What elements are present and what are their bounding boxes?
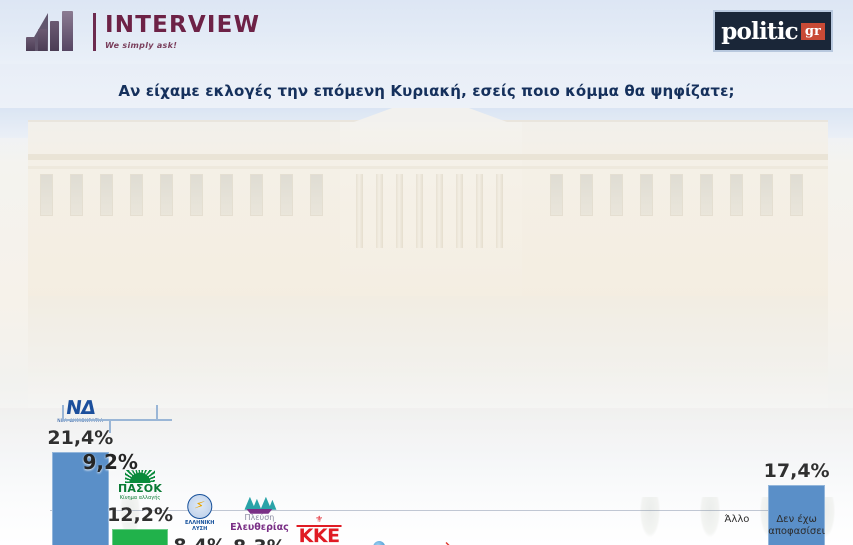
dimokratiko-patriotiko-kinima-party-logo-icon: ΔΗΜΟΚΡΑΤΙΚΟ ΚΙΝΗΜΑ — [344, 541, 414, 545]
bar-pasok[interactable] — [112, 529, 169, 545]
elliniki-lysi-subtitle: ΕΛΛΗΝΙΚΗΛΥΣΗ — [185, 520, 214, 533]
bar-group-nea-aristera[interactable]: 4,1% — [470, 476, 527, 545]
elliniki-lysi-party-logo-icon: ⚡ΕΛΛΗΝΙΚΗΛΥΣΗ — [185, 494, 214, 533]
brand-tagline: We simply ask! — [105, 41, 260, 50]
politic-wordmark: politic — [721, 20, 798, 43]
arrow-icon: ⟶ — [426, 539, 450, 545]
party-logo-kke: ⚜ΚΚΕ — [297, 516, 342, 545]
party-logo-pleusi-eleftherias: ΠλεύσηΕλευθερίας — [230, 497, 289, 533]
politic-gr-logo[interactable]: politic gr — [713, 10, 833, 52]
pleusi-eleftherias-party-logo-icon: ΠλεύσηΕλευθερίας — [230, 497, 289, 533]
bar-group-nd[interactable]: 21,4%ΝΔΝΕΑ ΔΗΜΟΚΡΑΤΙΑ — [52, 332, 109, 545]
bar-group-pleusi-eleftherias[interactable]: 8,3%ΠλεύσηΕλευθερίας — [231, 441, 288, 545]
compass-icon: ⚡ — [187, 494, 212, 519]
bar-group-den-exo-apofasisei[interactable]: 17,4%Δεν έχω αποφασίσει — [768, 365, 825, 545]
hammer-sickle-icon: ⚜ — [315, 516, 323, 525]
bar-group-dimokratiko-patriotiko-kinima[interactable]: 4,4%ΔΗΜΟΚΡΑΤΙΚΟ ΚΙΝΗΜΑ — [350, 473, 407, 545]
poll-question: Αν είχαμε εκλογές την επόμενη Κυριακή, ε… — [0, 82, 853, 100]
sailboat-icon — [242, 497, 276, 514]
logo-divider — [93, 13, 96, 51]
bar-value-pasok: 12,2% — [107, 504, 173, 526]
bar-group-syriza[interactable]: 3,7%ΣΥΡΙΖΑΠΡΟΟΔΕΥΤΙΚΗ ΣΥΜΜΑΧΙΑ — [530, 479, 587, 545]
party-logo-dimokratiko-patriotiko-kinima: ΔΗΜΟΚΡΑΤΙΚΟ ΚΙΝΗΜΑ — [344, 541, 414, 545]
pasok-name: ΠΑΣΟΚ — [118, 483, 162, 495]
kke-name: ΚΚΕ — [297, 525, 342, 545]
pasok-subtitle: Κίνημα αλλαγής — [120, 495, 161, 501]
party-logo-elliniki-lysi: ⚡ΕΛΛΗΝΙΚΗΛΥΣΗ — [185, 494, 214, 533]
mera25-party-logo-icon: ⟶ΜέΡΑ25 — [419, 539, 458, 545]
bar-group-niki[interactable]: 1,1%ΝΙΚΗ — [649, 501, 706, 545]
pleusi-line2: Ελευθερίας — [230, 523, 289, 533]
delta-value: 9,2% — [62, 450, 158, 474]
interview-logo[interactable]: INTERVIEW We simply ask! — [26, 10, 260, 54]
bar-value-den-exo-apofasisei: 17,4% — [764, 460, 830, 482]
brand-name: INTERVIEW — [105, 14, 260, 37]
bar-group-kourdisto-portokali[interactable]: 1,7%⛹ΚΟΥΡΔΙΣΤΟ ΠΟΡΤΟΚΑΛΙ — [589, 496, 646, 545]
bar-group-allo[interactable]: 6,5%Άλλο — [709, 456, 766, 545]
delta-bracket — [62, 405, 158, 433]
party-logo-pasok: ΠΑΣΟΚΚίνημα αλλαγής — [118, 470, 162, 501]
party-logo-mera25: ⟶ΜέΡΑ25 — [419, 539, 458, 545]
politic-gr-badge: gr — [801, 23, 825, 40]
x-label-den-exo-apofasisei: Δεν έχω αποφασίσει — [768, 514, 825, 537]
globe-icon — [373, 541, 385, 545]
bar-group-kke[interactable]: 6,5%⚜ΚΚΕ — [291, 456, 348, 545]
x-label-allo: Άλλο — [725, 514, 750, 526]
bar-group-mera25[interactable]: 4,3%⟶ΜέΡΑ25 — [410, 474, 467, 545]
poll-infographic: INTERVIEW We simply ask! politic gr Αν ε… — [0, 0, 853, 545]
bar-value-pleusi-eleftherias: 8,3% — [233, 536, 286, 545]
pasok-party-logo-icon: ΠΑΣΟΚΚίνημα αλλαγής — [118, 470, 162, 501]
bar-value-elliniki-lysi: 8,4% — [173, 535, 226, 545]
header-bar: INTERVIEW We simply ask! politic gr — [0, 0, 853, 64]
bars-logo-icon — [26, 11, 84, 53]
bar-chart: 21,4%ΝΔΝΕΑ ΔΗΜΟΚΡΑΤΙΑ12,2%ΠΑΣΟΚΚίνημα αλ… — [0, 108, 853, 408]
bar-group-elliniki-lysi[interactable]: 8,4%⚡ΕΛΛΗΝΙΚΗΛΥΣΗ — [171, 440, 228, 545]
kke-party-logo-icon: ⚜ΚΚΕ — [297, 516, 342, 545]
